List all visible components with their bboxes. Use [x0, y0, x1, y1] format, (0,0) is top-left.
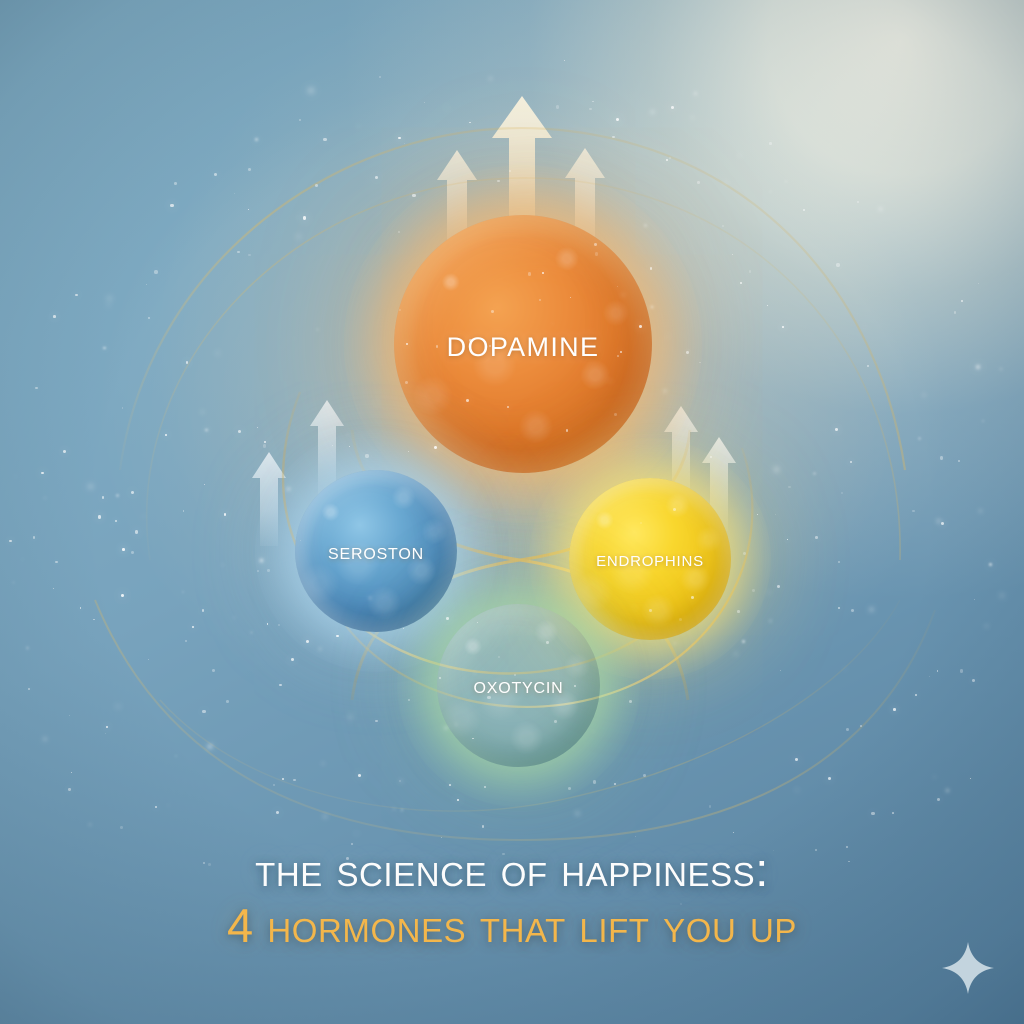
sparkle-dot [273, 784, 275, 786]
sparkle-dot [248, 168, 251, 171]
sparkle-dot [651, 306, 653, 308]
sparkle-dot [941, 522, 944, 525]
sparkle-dot [251, 632, 252, 633]
sparkle-dot [105, 733, 106, 734]
sparkle-dot [116, 705, 119, 708]
sparkle-dot [489, 77, 492, 80]
sparkle-dot [202, 710, 206, 714]
sparkle-dot [893, 708, 896, 711]
sparkle-dot [33, 536, 35, 538]
sparkle-dot [108, 297, 111, 300]
sparkle-dot [355, 832, 358, 835]
sparkle-dot [709, 805, 711, 807]
sparkle-dot [629, 700, 632, 703]
sparkle-dot [111, 525, 113, 527]
sparkle-dot [27, 647, 29, 649]
sparkle-dot [556, 105, 560, 109]
sparkle-dot [143, 516, 144, 517]
vignette-layer [0, 0, 1024, 1024]
sparkle-dot [710, 456, 712, 458]
sparkle-dot [441, 837, 442, 838]
sparkle-dot [408, 699, 411, 702]
sparkle-dot [614, 783, 616, 785]
sparkle-dot [226, 700, 229, 703]
sparkle-dot [469, 122, 470, 123]
sparkle-dot [365, 454, 368, 457]
sparkle-dot [208, 863, 211, 866]
page-subtitle: 4 Hormones That Lift You Up [0, 901, 1024, 951]
sparkle-dot [846, 846, 848, 848]
sparkle-dot [294, 338, 295, 339]
sparkle-dot [841, 492, 843, 494]
four-point-star-icon [938, 938, 998, 998]
sparkle-dot [836, 263, 839, 266]
sparkle-dot [867, 365, 869, 367]
sparkle-dot [154, 270, 158, 274]
sparkle-dot [989, 563, 993, 567]
sparkle-dot [686, 351, 689, 354]
sparkle-dot [767, 305, 768, 306]
sparkle-dot [35, 387, 38, 390]
sparkle-dot [934, 776, 936, 778]
sparkle-dot [788, 486, 791, 489]
sparkle-dot [502, 853, 504, 855]
sparkle-dot [870, 608, 873, 611]
sparkle-dot [497, 180, 500, 183]
sparkle-dot [752, 589, 755, 592]
sparkle-dot [838, 561, 841, 564]
sparkle-dot [644, 224, 647, 227]
sparkle-dot [379, 76, 381, 78]
sparkle-dot [742, 640, 745, 643]
sparkle-dot [257, 427, 258, 428]
sparkle-dot [351, 843, 353, 845]
sparkle-dot [815, 849, 817, 851]
sparkle-dot [22, 559, 23, 560]
sparkle-dot [770, 620, 771, 621]
sparkle-dot [699, 362, 701, 364]
sparkle-dot [446, 617, 449, 620]
sparkle-dot [255, 138, 258, 141]
sparkle-dot [323, 815, 326, 818]
sparkle-dot [732, 254, 733, 255]
sparkle-dot [506, 118, 508, 120]
sparkle-dot [122, 407, 124, 409]
sparkle-dot [183, 510, 185, 512]
sparkle-dot [53, 315, 56, 318]
sparkle-dot [303, 216, 307, 220]
sparkle-dot [297, 217, 298, 218]
sparkle-dot [287, 488, 290, 491]
sparkle-dot [332, 445, 333, 446]
sparkle-dot [358, 774, 361, 777]
sparkle-dot [69, 715, 70, 716]
sparkle-dot [260, 559, 263, 562]
sparkle-dot [946, 789, 949, 792]
sparkle-dot [267, 569, 270, 572]
sparkle-dot [55, 561, 58, 564]
sphere-label-seroston: Seroston [328, 538, 424, 565]
sparkle-dot [9, 540, 11, 542]
caption-block: The Science of Happiness: 4 Hormones Tha… [0, 846, 1024, 951]
sparkle-dot [743, 552, 746, 555]
sparkle-particles [0, 0, 1024, 1024]
sparkle-dot [757, 514, 758, 515]
sparkle-dot [53, 588, 54, 589]
sphere-seroston[interactable]: Seroston [295, 470, 457, 632]
sparkle-dot [1001, 594, 1004, 597]
sparkle-dot [68, 788, 70, 790]
sparkle-dot [671, 106, 674, 109]
sparkle-dot [775, 468, 778, 471]
sparkle-dot [848, 861, 850, 863]
sparkle-dot [212, 669, 215, 672]
sparkle-dot [768, 591, 771, 594]
sparkle-dot [146, 284, 147, 285]
sparkle-dot [306, 640, 309, 643]
sparkle-dot [347, 434, 349, 436]
sparkle-dot [722, 225, 724, 227]
sparkle-dot [940, 456, 944, 460]
sparkle-dot [828, 777, 831, 780]
sparkle-dot [509, 170, 512, 173]
sparkle-dot [1000, 368, 1003, 371]
sparkle-dot [267, 623, 268, 624]
sparkle-dot [282, 778, 284, 780]
sparkle-dot [224, 513, 227, 516]
sparkle-dot [457, 799, 459, 801]
sparkle-dot [651, 111, 654, 114]
sparkle-dot [89, 824, 91, 826]
sparkle-dot [972, 679, 975, 682]
sparkle-dot [857, 201, 859, 203]
sparkle-dot [98, 515, 101, 518]
sparkle-dot [202, 609, 205, 612]
sparkle-dot [434, 446, 437, 449]
sparkle-dot [106, 726, 108, 728]
sphere-endrophins[interactable]: Endrophins [569, 478, 731, 640]
sparkle-dot [323, 138, 327, 142]
sparkle-dot [576, 812, 579, 815]
sparkle-dot [203, 862, 205, 864]
sparkle-dot [222, 564, 224, 566]
sparkle-dot [248, 209, 249, 210]
sparkle-dot [204, 484, 205, 485]
sparkle-dot [400, 780, 402, 782]
sparkle-dot [613, 887, 616, 890]
sparkle-dot [408, 451, 409, 452]
sparkle-dot [937, 670, 938, 671]
sparkle-dot [775, 514, 776, 515]
sparkle-dot [155, 806, 157, 808]
sparkle-dot [263, 444, 266, 447]
sparkle-dot [593, 780, 596, 783]
sparkle-dot [208, 745, 211, 748]
sparkle-dot [803, 209, 806, 212]
sparkle-dot [666, 159, 668, 161]
sparkle-dot [202, 411, 203, 412]
sparkle-dot [135, 530, 138, 533]
sparkle-dot [297, 235, 300, 238]
sparkle-dot [568, 787, 571, 790]
sparkle-dot [735, 653, 738, 656]
sparkle-dot [122, 548, 125, 551]
sparkle-dot [780, 670, 781, 671]
sparkle-dot [293, 779, 296, 782]
sparkle-dot [912, 510, 915, 513]
sparkle-dot [937, 519, 940, 522]
sparkle-dot [228, 909, 230, 911]
sparkle-dot [978, 283, 980, 285]
sparkle-dot [44, 497, 46, 499]
sparkle-dot [970, 778, 971, 779]
sparkle-dot [782, 326, 784, 328]
sparkle-dot [982, 420, 985, 423]
sparkle-dot [121, 594, 124, 597]
sparkle-dot [89, 485, 92, 488]
sparkle-dot [650, 267, 653, 270]
sparkle-dot [403, 628, 404, 629]
sparkle-dot [664, 390, 666, 392]
sparkle-dot [871, 812, 875, 816]
sparkle-dot [120, 826, 123, 829]
sparkle-dot [237, 251, 240, 254]
sparkle-dot [770, 191, 771, 192]
sphere-label-oxotycin: Oxotycin [473, 672, 563, 699]
sparkle-dot [737, 610, 740, 613]
page-title: The Science of Happiness: [0, 846, 1024, 895]
sparkle-dot [960, 669, 963, 672]
sparkle-dot [484, 786, 486, 788]
sparkle-dot [217, 352, 219, 354]
sparkle-dot [929, 676, 930, 677]
sparkle-dot [28, 688, 30, 690]
sparkle-dot [773, 850, 774, 851]
sparkle-dot [168, 805, 170, 807]
sparkle-dot [317, 329, 318, 330]
sparkle-dot [248, 254, 251, 257]
sparkle-dot [148, 317, 149, 318]
sparkle-dot [234, 193, 235, 194]
orbital-ribbons [0, 0, 1024, 1024]
sparkle-dot [264, 441, 267, 444]
sparkle-dot [399, 780, 401, 782]
sphere-label-endrophins: Endrophins [596, 546, 704, 572]
sparkle-dot [107, 304, 110, 307]
sparkle-dot [349, 715, 353, 719]
sparkle-dot [257, 570, 259, 572]
sparkle-dot [749, 270, 751, 272]
sparkle-dot [375, 720, 377, 722]
sparkle-dot [93, 619, 95, 621]
sparkle-dot [796, 789, 798, 791]
sparkle-dot [309, 89, 313, 93]
sparkle-dot [879, 208, 881, 210]
sparkle-dot [687, 350, 689, 352]
sparkle-dot [165, 434, 167, 436]
sparkle-dot [299, 119, 301, 121]
sparkle-dot [405, 894, 407, 896]
sparkle-dot [643, 862, 646, 865]
sparkle-dot [680, 903, 682, 905]
sparkle-dot [445, 727, 447, 729]
sparkle-dot [398, 231, 400, 233]
sparkle-dot [44, 738, 46, 740]
sparkle-dot [937, 798, 940, 801]
sparkle-dot [976, 365, 979, 368]
sparkle-dot [15, 476, 16, 477]
sparkle-dot [319, 648, 322, 651]
sparkle-dot [446, 107, 447, 108]
sparkle-dot [205, 429, 208, 432]
sparkle-dot [214, 173, 217, 176]
sparkle-dot [540, 135, 542, 137]
arrow-left-outer-icon [252, 452, 286, 546]
sparkle-dot [103, 347, 106, 350]
sparkle-dot [322, 763, 324, 765]
sparkle-dot [291, 658, 294, 661]
sparkle-dot [375, 176, 379, 180]
sparkle-dot [185, 640, 187, 642]
sparkle-dot [279, 684, 282, 687]
ambient-glow-layer [0, 0, 1024, 1024]
sparkle-dot [697, 181, 700, 184]
sparkle-dot [401, 809, 403, 811]
sparkle-dot [63, 450, 66, 453]
sparkle-dot [182, 591, 184, 593]
sphere-label-dopamine: Dopamine [447, 323, 600, 366]
sparkle-dot [41, 472, 44, 475]
sparkle-dot [851, 609, 854, 612]
sparkle-dot [482, 825, 484, 827]
sparkle-dot [131, 551, 134, 554]
sparkle-dot [358, 126, 359, 127]
sparkle-dot [813, 472, 816, 475]
sparkle-dot [672, 880, 675, 883]
sparkle-dot [116, 494, 119, 497]
sparkle-dot [835, 428, 838, 431]
sparkle-dot [958, 460, 961, 463]
sparkle-dot [643, 774, 646, 777]
sparkle-dot [740, 282, 742, 284]
sparkle-dot [724, 181, 728, 185]
rising-arrows-layer [0, 0, 1024, 1024]
sparkle-dot [564, 60, 566, 62]
sparkle-dot [923, 394, 925, 396]
sparkle-dot [398, 137, 400, 139]
sparkle-dot [691, 116, 694, 119]
sparkle-dot [808, 525, 809, 526]
sparkle-dot [170, 204, 174, 208]
sparkle-dot [238, 430, 241, 433]
sparkle-dot [864, 326, 865, 327]
sparkle-dot [733, 832, 734, 833]
sparkle-dot [174, 182, 177, 185]
sparkle-dot [985, 625, 988, 628]
sparkle-dot [677, 880, 679, 882]
sparkle-dot [80, 607, 82, 609]
sparkle-dot [850, 461, 852, 463]
sparkle-dot [192, 626, 194, 628]
sparkle-dot [669, 157, 671, 159]
sparkle-dot [844, 668, 846, 670]
sparkle-dot [694, 92, 697, 95]
sparkle-dot [13, 582, 15, 584]
sparkle-dot [785, 181, 787, 183]
sparkle-dot [376, 402, 378, 404]
sparkle-dot [592, 101, 594, 103]
sparkle-dot [349, 446, 350, 447]
sparkle-dot [315, 184, 318, 187]
poster-canvas: Dopamine Seroston Endrophins Oxotycin Th… [0, 0, 1024, 1024]
sparkle-dot [449, 784, 451, 786]
sparkle-dot [115, 520, 117, 522]
sparkle-dot [424, 102, 425, 103]
sparkle-dot [616, 118, 619, 121]
sparkle-dot [404, 143, 405, 144]
sparkle-dot [589, 108, 592, 111]
sparkle-dot [846, 728, 849, 731]
sparkle-dot [336, 635, 339, 638]
sparkle-dot [612, 136, 615, 139]
sparkle-dot [667, 335, 669, 337]
sparkle-dot [635, 836, 637, 838]
sparkle-dot [769, 142, 772, 145]
sparkle-dot [346, 857, 349, 860]
sparkle-dot [860, 725, 862, 727]
sphere-dopamine[interactable]: Dopamine [394, 215, 652, 473]
sparkle-dot [795, 758, 798, 761]
sparkle-dot [102, 496, 105, 499]
sparkle-dot [838, 607, 840, 609]
sparkle-dot [473, 870, 475, 872]
sparkle-dot [278, 624, 280, 626]
sparkle-dot [175, 755, 177, 757]
sparkle-dot [787, 539, 788, 540]
sparkle-dot [148, 659, 149, 660]
sparkle-dot [954, 311, 956, 313]
sparkle-dot [961, 300, 964, 303]
sparkle-dot [593, 731, 595, 733]
sparkle-dot [393, 808, 396, 811]
sparkle-dot [75, 294, 77, 296]
sparkle-dot [674, 642, 676, 644]
sphere-oxotycin[interactable]: Oxotycin [437, 604, 600, 767]
sparkle-dot [131, 491, 135, 495]
sparkle-dot [915, 694, 917, 696]
sparkle-dot [892, 812, 894, 814]
sparkle-dot [777, 585, 780, 588]
sparkle-dot [234, 617, 235, 618]
sparkle-dot [979, 510, 982, 513]
sparkle-dot [71, 772, 73, 774]
sparkle-dot [738, 154, 740, 156]
sparkle-dot [186, 361, 189, 364]
sparkle-dot [974, 599, 976, 601]
sparkle-dot [276, 811, 279, 814]
sparkle-dot [815, 536, 818, 539]
sparkle-dot [412, 194, 416, 198]
sparkle-dot [918, 437, 921, 440]
